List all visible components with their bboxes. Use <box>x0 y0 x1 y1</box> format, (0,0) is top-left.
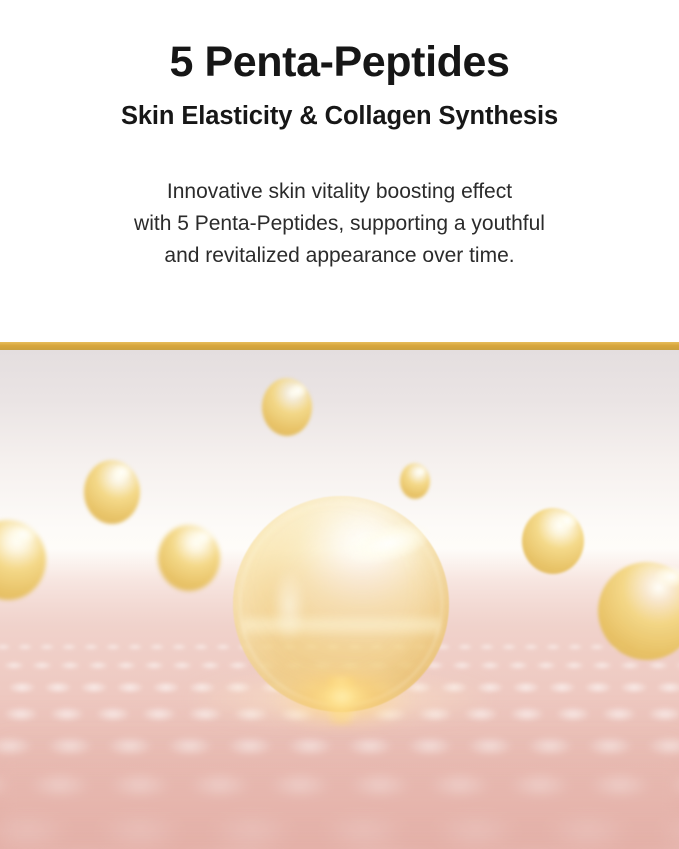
body-line-3: and revitalized appearance over time. <box>134 240 545 272</box>
droplet-icon <box>84 460 140 524</box>
page-title: 5 Penta-Peptides <box>169 38 509 87</box>
product-ingredient-banner: 5 Penta-Peptides Skin Elasticity & Colla… <box>0 0 679 849</box>
text-block: 5 Penta-Peptides Skin Elasticity & Colla… <box>0 0 679 342</box>
gold-divider <box>0 342 679 350</box>
droplet-icon <box>158 525 220 591</box>
droplet-icon <box>522 508 584 574</box>
serum-droplet-illustration <box>0 350 679 849</box>
droplet-icon <box>262 378 312 436</box>
body-line-1: Innovative skin vitality boosting effect <box>134 176 545 208</box>
contact-glow <box>272 662 412 732</box>
body-copy: Innovative skin vitality boosting effect… <box>134 176 545 272</box>
page-subtitle: Skin Elasticity & Collagen Synthesis <box>121 101 558 132</box>
foreground-blur-fog <box>0 729 679 849</box>
body-line-2: with 5 Penta-Peptides, supporting a yout… <box>134 208 545 240</box>
droplet-icon <box>400 463 430 499</box>
